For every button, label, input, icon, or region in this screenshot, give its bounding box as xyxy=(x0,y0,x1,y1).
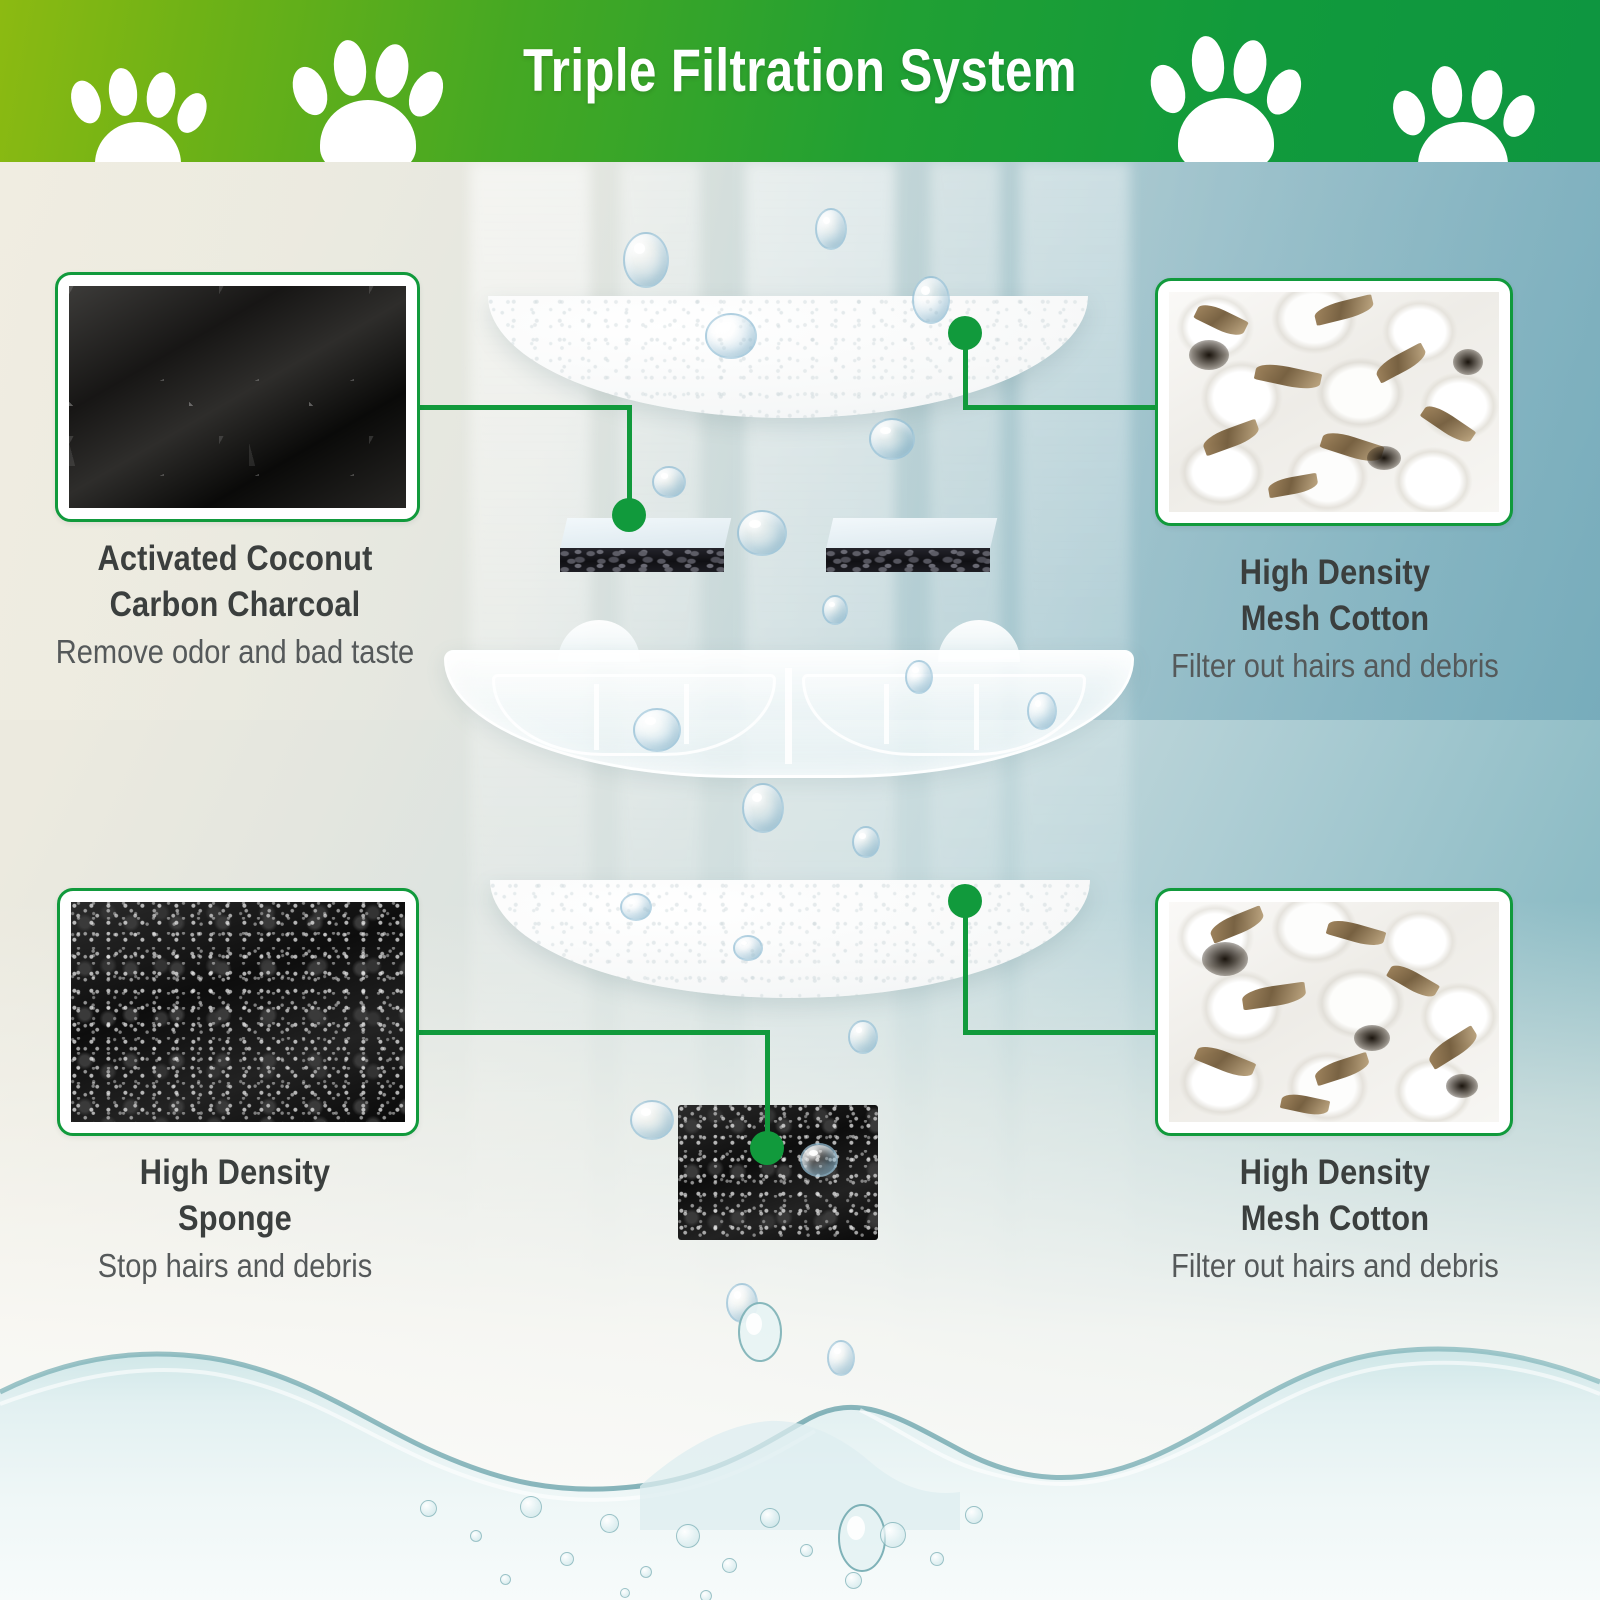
carbon-packet-top-face xyxy=(560,518,731,549)
water-droplet xyxy=(623,232,669,288)
water-droplet xyxy=(852,826,880,858)
water-bubble xyxy=(722,1558,737,1573)
housing-rib xyxy=(884,684,889,744)
water-droplet xyxy=(652,466,686,498)
connector-line-carbon xyxy=(418,405,632,410)
water-bubble xyxy=(700,1590,712,1600)
water-bubble xyxy=(880,1522,906,1548)
water-bubble xyxy=(560,1552,574,1566)
feature-title-line2: Mesh Cotton xyxy=(1241,599,1429,638)
housing-divider xyxy=(785,668,792,764)
housing-rib xyxy=(594,684,599,750)
water-droplet xyxy=(620,893,652,921)
carbon-granule-edge xyxy=(560,548,724,572)
connector-dot-sponge xyxy=(750,1131,784,1165)
feature-label-mesh-cotton-bottom: High Density Mesh Cotton Filter out hair… xyxy=(1105,1150,1565,1288)
connector-line-cotton-bottom xyxy=(963,1030,1185,1035)
carbon-packet-right xyxy=(826,518,990,572)
connector-line-cotton-bottom xyxy=(963,908,968,1035)
sponge-block xyxy=(678,1105,878,1240)
feature-card-mesh-cotton-bottom[interactable] xyxy=(1155,888,1513,1136)
water-droplet xyxy=(822,595,848,625)
water-bubble xyxy=(845,1572,862,1589)
feature-subtitle: Remove odor and bad taste xyxy=(33,631,438,674)
water-droplet xyxy=(869,418,915,460)
housing-rib xyxy=(974,684,979,750)
water-bubble xyxy=(620,1588,630,1598)
header-banner: Triple Filtration System xyxy=(0,0,1600,162)
water-bubble xyxy=(930,1552,944,1566)
carbon-packet-left xyxy=(560,518,724,572)
feature-title-line1: High Density xyxy=(140,1153,330,1192)
water-droplet xyxy=(848,1020,878,1054)
feature-subtitle: Filter out hairs and debris xyxy=(1133,1245,1538,1288)
feature-subtitle: Filter out hairs and debris xyxy=(1133,645,1538,688)
water-droplet xyxy=(905,660,933,694)
feature-label-mesh-cotton-top: High Density Mesh Cotton Filter out hair… xyxy=(1105,550,1565,688)
water-bubble xyxy=(800,1544,813,1557)
connector-line-cotton-top xyxy=(963,405,1185,410)
feature-title-line2: Carbon Charcoal xyxy=(110,585,361,624)
feature-label-activated-carbon: Activated Coconut Carbon Charcoal Remove… xyxy=(5,536,465,674)
water-droplet xyxy=(912,276,950,324)
feature-title-line2: Sponge xyxy=(178,1199,292,1238)
carbon-granule-edge xyxy=(826,548,990,572)
water-bubble xyxy=(760,1508,780,1528)
feature-card-sponge[interactable] xyxy=(57,888,419,1136)
sponge-photo xyxy=(71,902,405,1122)
water-droplet xyxy=(742,783,784,833)
water-droplet xyxy=(733,935,763,961)
page-title: Triple Filtration System xyxy=(144,36,1456,105)
water-splash xyxy=(0,1300,1600,1600)
water-droplet xyxy=(815,208,847,250)
charcoal-photo xyxy=(69,286,406,508)
infographic-root: Triple Filtration System xyxy=(0,0,1600,1600)
water-droplet xyxy=(705,313,757,359)
water-bubble xyxy=(470,1530,482,1542)
water-droplet xyxy=(630,1100,674,1140)
water-bubble xyxy=(676,1524,700,1548)
water-bubble xyxy=(965,1506,983,1524)
feature-subtitle: Stop hairs and debris xyxy=(33,1245,438,1288)
water-bubble xyxy=(600,1514,619,1533)
feature-title-line2: Mesh Cotton xyxy=(1241,1199,1429,1238)
water-bubble xyxy=(500,1574,511,1585)
feature-title-line1: High Density xyxy=(1240,1153,1430,1192)
water-droplet xyxy=(1027,692,1057,730)
feature-title-line1: Activated Coconut xyxy=(97,539,372,578)
housing-rib xyxy=(684,684,689,744)
feature-card-mesh-cotton-top[interactable] xyxy=(1155,278,1513,526)
water-droplet xyxy=(737,510,787,556)
water-bubble xyxy=(520,1496,542,1518)
feature-title-line1: High Density xyxy=(1240,553,1430,592)
connector-line-sponge xyxy=(418,1030,770,1035)
cotton-photo xyxy=(1169,902,1499,1122)
water-bubble xyxy=(420,1500,437,1517)
feature-card-activated-carbon[interactable] xyxy=(55,272,420,522)
cotton-photo xyxy=(1169,292,1499,512)
connector-dot-carbon xyxy=(612,498,646,532)
water-droplet xyxy=(800,1143,838,1177)
water-bubble xyxy=(640,1566,652,1578)
connector-line-cotton-top xyxy=(963,340,968,408)
carbon-packet-top-face xyxy=(826,518,997,549)
water-droplet xyxy=(633,708,681,752)
feature-label-sponge: High Density Sponge Stop hairs and debri… xyxy=(5,1150,465,1288)
